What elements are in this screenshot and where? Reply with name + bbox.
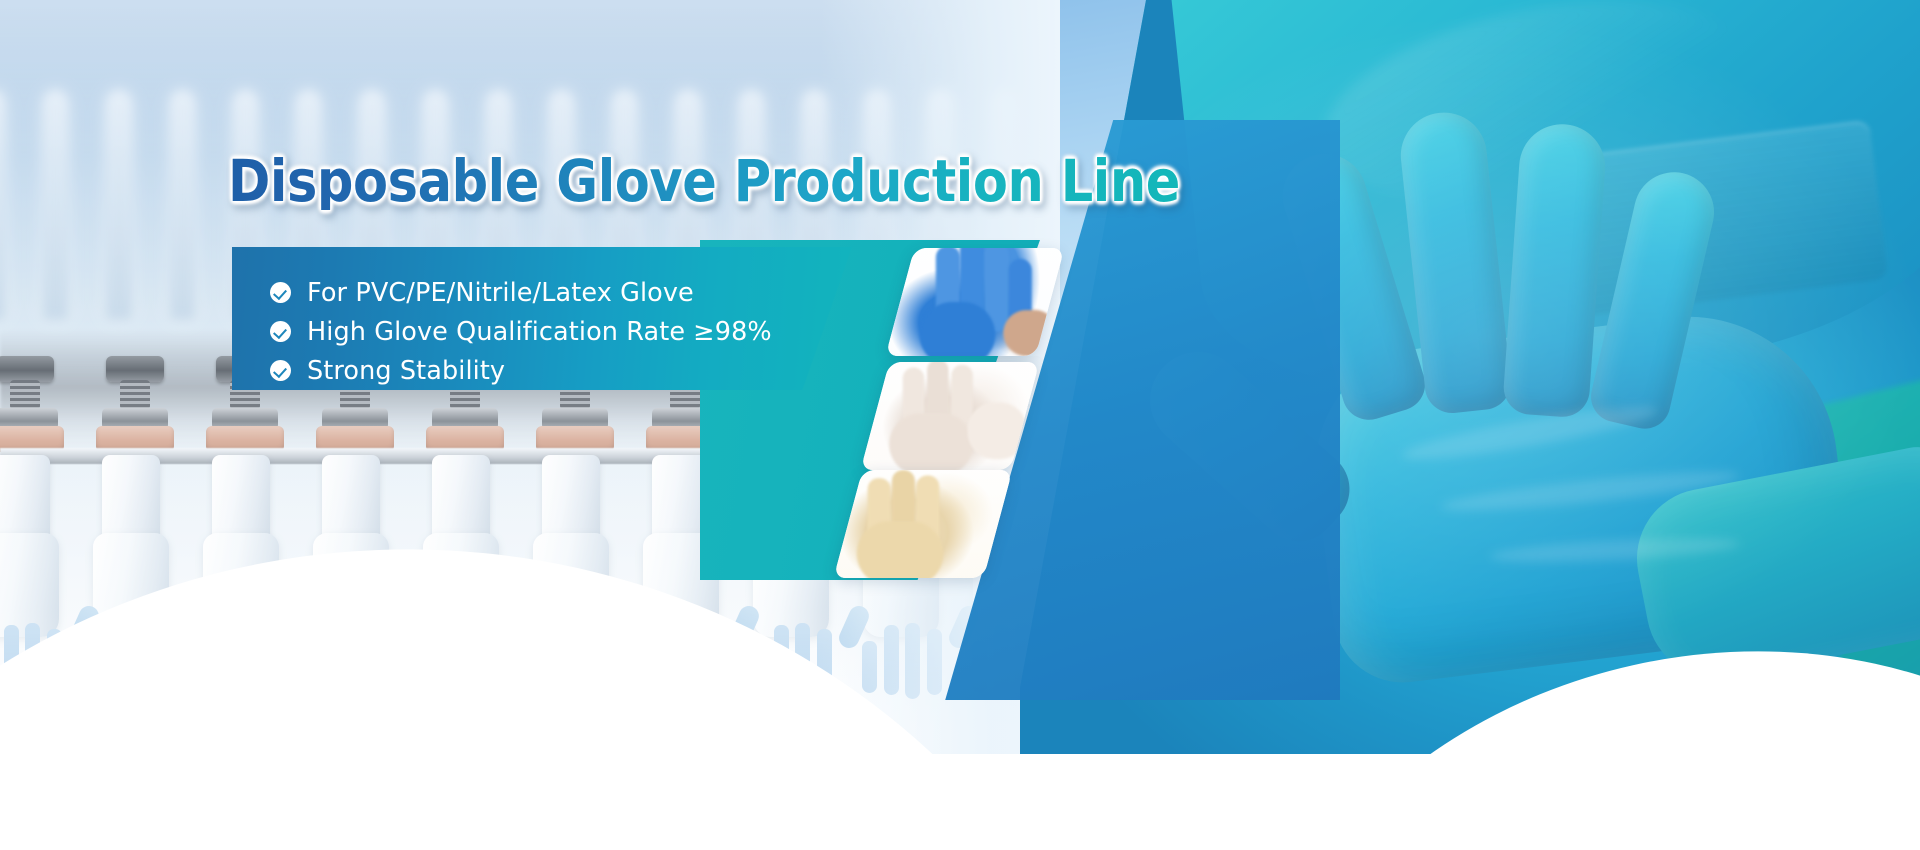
white-latex-gloves-photo xyxy=(861,362,1040,470)
glove-production-line-banner: Disposable Glove Production Line For PVC… xyxy=(0,0,1920,850)
check-circle-icon xyxy=(270,360,291,381)
check-circle-icon xyxy=(270,321,291,342)
banner-title: Disposable Glove Production Line xyxy=(228,152,1180,210)
bottom-white-fill xyxy=(0,754,1920,850)
cream-latex-glove-photo xyxy=(834,470,1013,578)
feature-list-panel: For PVC/PE/Nitrile/Latex Glove High Glov… xyxy=(232,247,852,390)
feature-item: For PVC/PE/Nitrile/Latex Glove xyxy=(270,273,852,312)
photo-card-cream-latex-glove xyxy=(834,470,1013,578)
blue-nitrile-gloves-photo xyxy=(886,248,1065,356)
feature-label: Strong Stability xyxy=(307,356,505,386)
feature-label: For PVC/PE/Nitrile/Latex Glove xyxy=(307,278,694,308)
photo-card-white-latex-gloves xyxy=(861,362,1040,470)
feature-item: Strong Stability xyxy=(270,351,852,390)
check-circle-icon xyxy=(270,282,291,303)
feature-label: High Glove Qualification Rate ≥98% xyxy=(307,317,772,347)
feature-item: High Glove Qualification Rate ≥98% xyxy=(270,312,852,351)
photo-card-blue-nitrile-gloves xyxy=(886,248,1065,356)
